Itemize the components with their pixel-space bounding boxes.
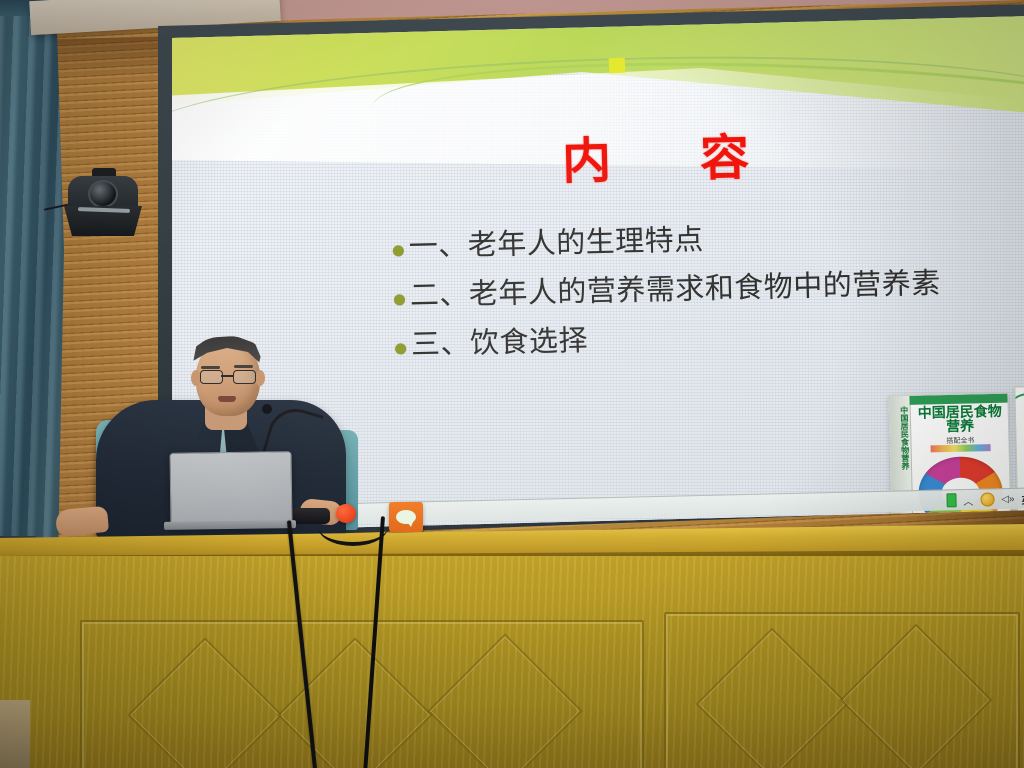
list-item: 三、饮食选择 [395, 313, 1024, 362]
lecture-hall-photo: 内 容 一、老年人的生理特点 二、老年人的营养需求和食物中的营养素 三、饮食选择… [0, 0, 1024, 768]
wechat-icon[interactable] [389, 502, 423, 532]
glasses-bridge [221, 375, 233, 377]
volume-icon[interactable]: ◁» [1001, 493, 1015, 504]
bullet-text: 一、老年人的生理特点 [408, 222, 704, 263]
slide-yellow-accent [609, 58, 626, 74]
microphone-head-icon [262, 404, 272, 414]
presenter-brow-right [234, 365, 253, 368]
bullet-text: 三、饮食选择 [411, 323, 589, 361]
glasses-lens-left [200, 370, 223, 384]
presenter-brow-left [201, 366, 220, 369]
wechat-bubble-icon [396, 510, 416, 524]
book-title: 中国居民食物营养 [914, 405, 1007, 436]
bullet-dot-icon [394, 295, 405, 306]
camera-lens-icon [88, 180, 118, 208]
bullet-dot-icon [393, 245, 404, 256]
presenter-hand-left [55, 506, 109, 536]
glasses-lens-right [233, 370, 256, 384]
cable-loop [318, 508, 388, 546]
chevron-up-icon[interactable]: ︿ [963, 492, 973, 507]
floor-object [0, 700, 30, 768]
slide-title: 内 容 [561, 118, 770, 194]
presenter-ear-right [255, 370, 265, 386]
slide-bullet-list: 一、老年人的生理特点 二、老年人的营养需求和食物中的营养素 三、饮食选择 [392, 214, 1024, 377]
book-color-tag [931, 444, 991, 452]
laptop[interactable] [169, 451, 292, 527]
bullet-text: 二、老年人的营养需求和食物中的营养素 [410, 266, 942, 313]
battery-icon[interactable] [946, 493, 956, 507]
update-icon[interactable] [980, 492, 994, 506]
list-item: 二、老年人的营养需求和食物中的营养素 [394, 264, 1024, 313]
book-spine-text: 中国居民食物营养 [892, 406, 909, 470]
bullet-dot-icon [395, 344, 406, 355]
presenter-mouth [218, 396, 236, 402]
